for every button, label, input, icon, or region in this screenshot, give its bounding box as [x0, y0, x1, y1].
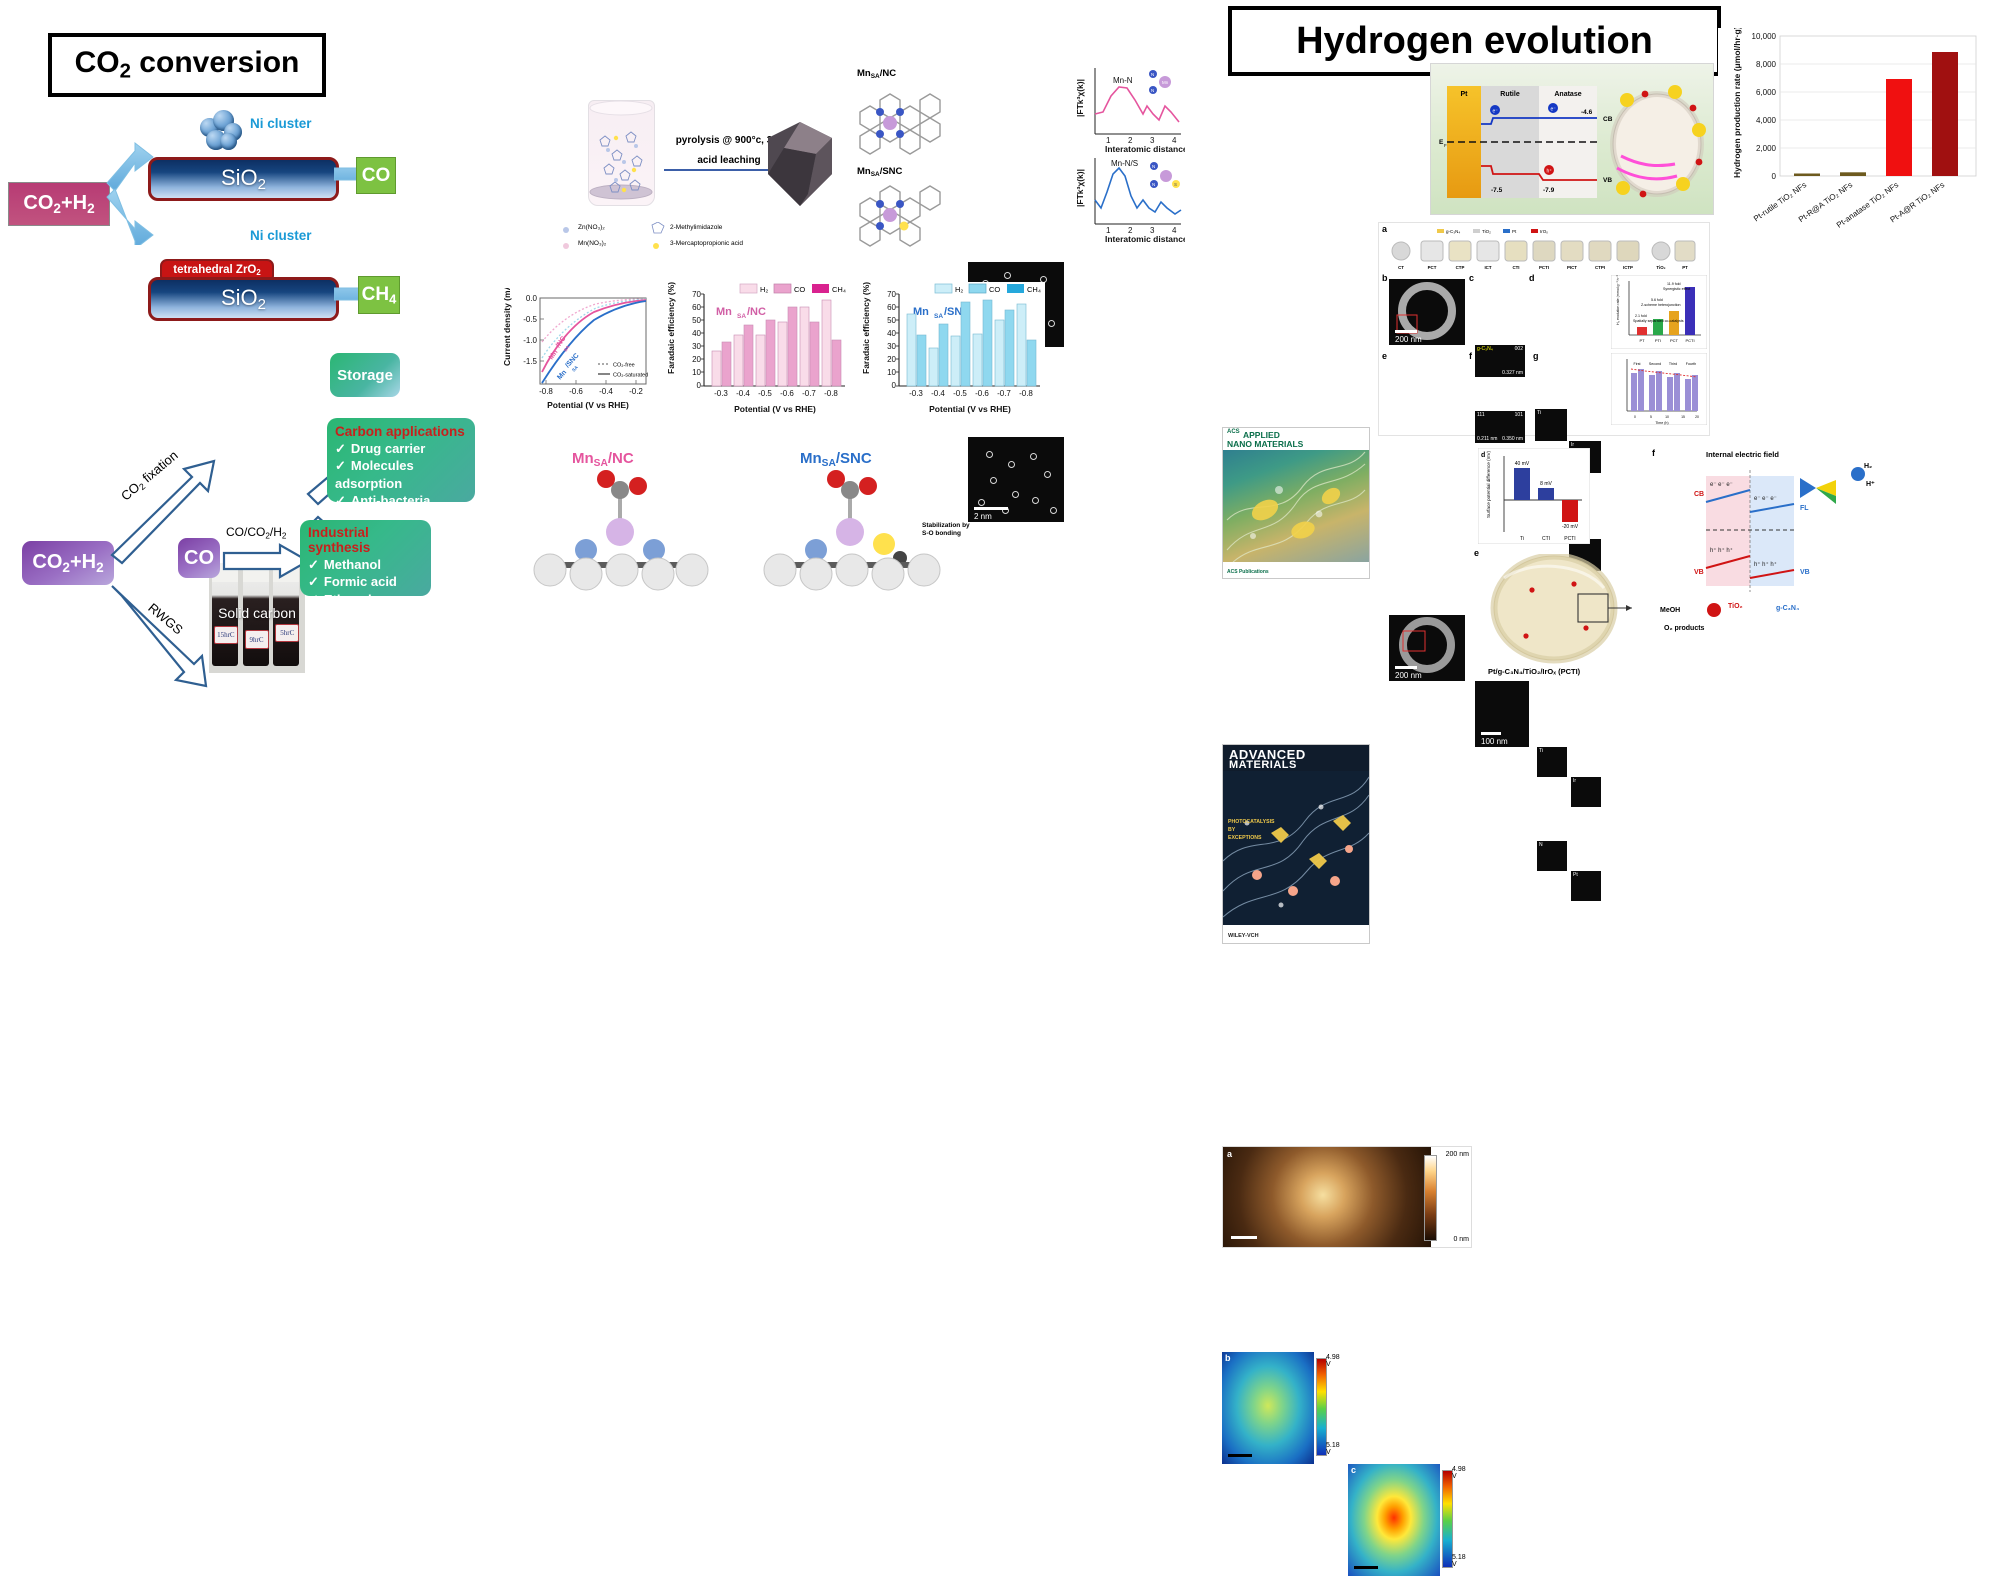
industrial-title: Industrial synthesis [308, 525, 423, 555]
svg-text:g-C₃N₄: g-C₃N₄ [1446, 229, 1460, 234]
product-co-box: CO [356, 157, 396, 194]
svg-text:15: 15 [1681, 415, 1685, 419]
solid-carbon-vials-photo: Solid carbon 15hrC 9hrC 5hrC [209, 563, 305, 673]
svg-text:-0.7: -0.7 [997, 389, 1011, 398]
svg-text:PT: PT [1682, 265, 1688, 269]
co-stream-label: CO/CO2/H2 [226, 525, 286, 540]
svg-text:40 mV: 40 mV [1515, 461, 1530, 467]
svg-text:SA: SA [934, 313, 943, 320]
eds-ti-2: Ti [1537, 747, 1567, 777]
svg-text:CT: CT [1398, 265, 1404, 269]
hrtem-label-gcn: g-C₃N₄ [1477, 346, 1493, 352]
svg-text:10: 10 [887, 368, 896, 377]
legend-zn-label: Zn(NO₃)₂ [578, 224, 605, 231]
svg-text:PCTI: PCTI [1539, 265, 1549, 269]
adv-title2: MATERIALS [1229, 759, 1297, 771]
band-alignment-schematic: Pt Rutile Anatase EF -4.6 CB -7.5 -7.9 V… [1430, 63, 1714, 215]
vial-label-2: 9hrC [245, 630, 269, 649]
kpfm-panel-c: c 4.98 V 5.18 V [1348, 1464, 1468, 1576]
svg-text:Pt: Pt [1512, 229, 1517, 234]
carbon-apps-list: Drug carrier Molecules adsorption Anti-b… [335, 440, 467, 526]
solid-carbon-caption: Solid carbon [209, 605, 305, 621]
model-label-snc: MnSA/SNC [800, 450, 872, 469]
svg-text:-0.6: -0.6 [780, 389, 794, 398]
svg-text:20: 20 [1695, 415, 1699, 419]
svg-text:-1.5: -1.5 [523, 357, 537, 366]
eds-label-ti: Ti [1537, 410, 1541, 416]
svg-text:N: N [1151, 88, 1154, 93]
storage-box: Storage [330, 353, 400, 397]
afm-letter-a: a [1227, 1149, 1232, 1159]
svg-text:Potential (V vs RHE): Potential (V vs RHE) [734, 404, 816, 414]
tem-panel-e: 200 nm [1389, 615, 1465, 681]
svg-text:VB: VB [1800, 569, 1810, 576]
svg-text:MeOH: MeOH [1660, 607, 1680, 614]
svg-text:e⁻: e⁻ [1551, 107, 1557, 113]
svg-text:0: 0 [1772, 172, 1777, 181]
feed-top-label: CO2+H2 [23, 192, 94, 216]
scalebar-f: 100 nm [1481, 737, 1508, 746]
carbon-applications-panel: Carbon applications Drug carrier Molecul… [327, 418, 475, 502]
svg-text:Ti: Ti [1520, 536, 1524, 542]
pcti-sphere-model: e Pt/g-C₃N₄/TiO₂/IrOₓ (PCTI) [1472, 548, 1647, 676]
kpfm-b-bottom: 5.18 V [1326, 1442, 1342, 1456]
industrial-item: Methanol [308, 556, 423, 573]
svg-text:IrOₓ: IrOₓ [1540, 229, 1548, 234]
svg-text:Current density (mA/cm²): Current density (mA/cm²) [502, 288, 512, 366]
svg-text:-0.4: -0.4 [599, 387, 613, 396]
kpfm-b-top: 4.98 V [1326, 1354, 1342, 1368]
svg-text:20: 20 [692, 355, 701, 364]
svg-text:2,000: 2,000 [1756, 144, 1777, 153]
ch4-label: CH4 [362, 284, 397, 307]
internal-field-label: Internal electric field [1706, 450, 1779, 459]
svg-text:CTPI: CTPI [1595, 265, 1605, 269]
feed-co2-h2-top: CO2+H2 [8, 182, 110, 226]
co2-banner-text: CO2 conversion [75, 46, 300, 84]
acs-applied-nano-materials-cover: ACS APPLIED NANO MATERIALS ACS Publicati… [1222, 427, 1370, 579]
svg-text:H₂ evolution rate (mmol g⁻¹ h⁻: H₂ evolution rate (mmol g⁻¹ h⁻¹) [1616, 275, 1620, 325]
adv-sub3: EXCEPTIONS [1228, 835, 1275, 843]
svg-text:Interatomic distance (Å): Interatomic distance (Å) [1105, 234, 1185, 244]
svg-text:h⁺: h⁺ [1547, 169, 1553, 175]
svg-text:CH₄: CH₄ [832, 285, 846, 294]
svg-text:0: 0 [697, 381, 702, 390]
structure-label-nc: MnSA/NC [857, 68, 896, 80]
svg-text:50: 50 [692, 316, 701, 325]
legend-methylimidazole-label: 2-Methylimidazole [670, 224, 722, 231]
eds-ir-2: Ir [1571, 777, 1601, 807]
vial-label-3: 5hrC [275, 624, 299, 643]
svg-text:Third: Third [1669, 362, 1677, 366]
svg-text:d: d [1481, 452, 1485, 459]
eds-pt-2: Pt [1571, 871, 1601, 901]
hrtem-1: g-C₃N₄ 002 0.327 nm [1475, 345, 1525, 377]
svg-text:5.6 fold: 5.6 fold [1651, 298, 1663, 302]
surface-potential-chart: d 40 mV8 mV-20 mV TiCTIPCTI Surface pote… [1478, 448, 1590, 544]
carbon-apps-title: Carbon applications [335, 424, 467, 439]
svg-text:/NC: /NC [747, 306, 766, 318]
svg-text:-0.8: -0.8 [539, 387, 553, 396]
kpfm-letter-c: c [1351, 1465, 1356, 1475]
sio2-support-bottom: SiO2 [148, 277, 339, 321]
svg-text:Spatially separated co-catalys: Spatially separated co-catalysts [1633, 319, 1684, 323]
eds-n-2: N [1537, 841, 1567, 871]
hydrogen-production-chart: 10,0008,0006,000 4,0002,0000 Hydrogen pr… [1718, 28, 1988, 238]
svg-text:Hydrogen production rate (μmol: Hydrogen production rate (μmol/hr·g) [1732, 28, 1742, 178]
svg-text:CO: CO [794, 285, 805, 294]
svg-text:-7.5: -7.5 [1491, 187, 1503, 194]
svg-text:5: 5 [1650, 415, 1652, 419]
feed-co2-h2-bottom: CO2+H2 [22, 541, 114, 585]
svg-text:Second: Second [1649, 362, 1661, 366]
svg-text:Fourth: Fourth [1686, 362, 1696, 366]
svg-text:6,000: 6,000 [1756, 88, 1777, 97]
svg-text:-20 mV: -20 mV [1562, 524, 1579, 530]
svg-text:F: F [1444, 143, 1447, 148]
panel-letter-c: c [1469, 273, 1474, 283]
svg-text:e⁻ e⁻ e⁻: e⁻ e⁻ e⁻ [1754, 496, 1777, 502]
svg-text:CH₄: CH₄ [1027, 285, 1041, 294]
svg-text:N: N [1152, 182, 1155, 187]
svg-text:0: 0 [1634, 415, 1636, 419]
svg-text:-7.9: -7.9 [1543, 187, 1555, 194]
svg-text:Anatase: Anatase [1554, 91, 1581, 98]
faradaic-efficiency-chart-nc: 706050 403020 100 Faradaic efficiency (%… [660, 282, 850, 418]
svg-text:30: 30 [692, 342, 701, 351]
svg-text:40: 40 [887, 329, 896, 338]
sio2-label-bottom: SiO2 [221, 285, 266, 313]
svg-text:N: N [1152, 164, 1155, 169]
svg-text:-0.7: -0.7 [802, 389, 816, 398]
tem-panel-b: 200 nm [1389, 279, 1465, 345]
dft-model-nc [520, 470, 715, 610]
svg-text:ICTP: ICTP [1623, 265, 1633, 269]
kpfm-c-top: 4.98 V [1452, 1466, 1468, 1480]
svg-text:H₂: H₂ [955, 285, 963, 294]
sio2-support-top: SiO2 [148, 157, 339, 201]
legend-mercaptopropionic-label: 3-Mercaptopropionic acid [670, 240, 743, 247]
adv-sub2: BY [1228, 827, 1275, 835]
vial-label-1: 15hrC [214, 626, 238, 645]
svg-text:-0.5: -0.5 [953, 389, 967, 398]
kpfm-panel-b: b 4.98 V 5.18 V [1222, 1352, 1342, 1464]
svg-text:-0.5: -0.5 [758, 389, 772, 398]
zro2-label: tetrahedral ZrO2 [173, 264, 260, 277]
svg-text:CB: CB [1694, 491, 1704, 498]
panel-letter-b: b [1382, 273, 1388, 283]
svg-text:Time (h): Time (h) [1655, 421, 1668, 425]
svg-text:Mn-N/S: Mn-N/S [1111, 159, 1138, 168]
svg-text:CO: CO [989, 285, 1000, 294]
svg-text:Potential (V vs RHE): Potential (V vs RHE) [929, 404, 1011, 414]
adv-sub1: PHOTOCATALYSIS [1228, 819, 1275, 827]
panel-letter-f: f [1469, 351, 1472, 361]
svg-text:Z-scheme heterojunction: Z-scheme heterojunction [1641, 303, 1681, 307]
carbon-app-item: Molecules adsorption [335, 457, 467, 492]
svg-text:50: 50 [887, 316, 896, 325]
svg-text:-0.2: -0.2 [629, 387, 643, 396]
svg-text:Faradaic efficiency (%): Faradaic efficiency (%) [861, 282, 871, 374]
industrial-list: Methanol Formic acid Ethanol [308, 556, 423, 608]
svg-text:S: S [1174, 182, 1177, 187]
svg-text:-0.3: -0.3 [909, 389, 923, 398]
svg-text:CO₂-free: CO₂-free [613, 363, 635, 369]
mech-letter-f: f [1652, 448, 1655, 458]
svg-text:0.0: 0.0 [526, 294, 538, 303]
svg-text:PCT: PCT [1670, 338, 1679, 343]
mn-snc-graphene-structure [850, 182, 945, 254]
svg-text:Mn: Mn [716, 306, 732, 318]
svg-text:e⁻ e⁻ e⁻: e⁻ e⁻ e⁻ [1710, 482, 1733, 488]
svg-text:-1.0: -1.0 [523, 336, 537, 345]
svg-text:-0.8: -0.8 [1019, 389, 1033, 398]
svg-text:20: 20 [887, 355, 896, 364]
svg-text:VB: VB [1694, 569, 1704, 576]
multipanel-characterization-figure: a g-C₃N₄ TiO₂ Pt IrOₓ CTPCTCTP ICTCTIPCT… [1378, 222, 1710, 436]
hrtem-101: 101 [1515, 412, 1523, 418]
svg-text:N: N [1151, 72, 1154, 77]
industrial-synthesis-panel: Industrial synthesis Methanol Formic aci… [300, 520, 431, 596]
scalebar-b: 200 nm [1395, 335, 1422, 344]
svg-text:PT: PT [1639, 338, 1645, 343]
beaker-contents [586, 98, 656, 208]
zif-polyhedron [760, 120, 840, 210]
hrtem-0327: 0.327 nm [1502, 370, 1523, 376]
afm-scale-top: 200 nm [1446, 1151, 1469, 1158]
structure-label-snc: MnSA/SNC [857, 166, 902, 178]
svg-text:2.1 fold: 2.1 fold [1635, 314, 1647, 318]
eds2-label-n: N [1539, 842, 1543, 848]
svg-text:-0.8: -0.8 [824, 389, 838, 398]
svg-text:10: 10 [1665, 415, 1669, 419]
svg-text:H₂: H₂ [1864, 463, 1872, 470]
industrial-item: Formic acid [308, 573, 423, 590]
afm-topography-panel: a 200 nm 0 nm [1222, 1146, 1472, 1248]
carbon-app-item: Drug carrier [335, 440, 467, 457]
svg-text:Mn: Mn [1162, 80, 1169, 85]
svg-text:11.9 fold: 11.9 fold [1667, 282, 1681, 286]
svg-text:Rutile: Rutile [1500, 91, 1520, 98]
svg-text:10,000: 10,000 [1752, 32, 1777, 41]
svg-text:70: 70 [887, 290, 896, 299]
hrtem-0350: 0.350 nm [1502, 436, 1523, 442]
svg-text:PICT: PICT [1567, 265, 1577, 269]
kpfm-letter-b: b [1225, 1353, 1231, 1363]
hrtem-2: 111 101 0.211 nm 0.350 nm [1475, 411, 1525, 443]
co-intermediate-box: CO [178, 538, 220, 578]
svg-text:60: 60 [692, 303, 701, 312]
svg-text:ICT: ICT [1484, 265, 1491, 269]
afm-scale-bottom: 0 nm [1453, 1236, 1469, 1243]
eds2-label-ti: Ti [1539, 748, 1543, 754]
model-label-nc: MnSA/NC [572, 450, 634, 469]
mn-nc-graphene-structure [850, 84, 945, 162]
panel-letter-e: e [1382, 351, 1387, 361]
dft-model-snc [750, 470, 955, 610]
svg-text:Potential (V vs RHE): Potential (V vs RHE) [547, 400, 629, 410]
svg-text:First: First [1634, 362, 1641, 366]
svg-text:-0.6: -0.6 [975, 389, 989, 398]
svg-text:TiO₂: TiO₂ [1656, 265, 1665, 269]
svg-text:-0.4: -0.4 [931, 389, 945, 398]
eds-ti-1: Ti [1535, 409, 1567, 441]
industrial-item: Ethanol [308, 591, 423, 608]
svg-text:60: 60 [887, 303, 896, 312]
tem-panel-f: 100 nm [1475, 681, 1529, 747]
kpfm-c-bottom: 5.18 V [1452, 1554, 1468, 1568]
acs-line2: NANO MATERIALS [1227, 439, 1303, 449]
svg-text:40: 40 [692, 329, 701, 338]
svg-text:70: 70 [692, 290, 701, 299]
tem-image-snc: 2 nm [968, 437, 1064, 522]
svg-text:Faradaic efficiency (%): Faradaic efficiency (%) [666, 282, 676, 374]
h2-banner-text: Hydrogen evolution [1296, 20, 1653, 63]
svg-text:SA: SA [737, 313, 746, 320]
tem-scalebar-snc: 2 nm [974, 512, 992, 521]
svg-text:FL: FL [1800, 505, 1809, 512]
panel-letter-d: d [1529, 273, 1535, 283]
svg-text:Pt: Pt [1461, 91, 1469, 98]
svg-text:PTI: PTI [1655, 338, 1661, 343]
legend-mn-label: Mn(NO₃)₂ [578, 240, 606, 247]
svg-text:0: 0 [892, 381, 897, 390]
svg-text:H₂: H₂ [760, 285, 768, 294]
svg-text:TiO₂: TiO₂ [1482, 229, 1491, 234]
svg-text:e⁻: e⁻ [1493, 109, 1499, 115]
pcti-caption: Pt/g-C₃N₄/TiO₂/IrOₓ (PCTI) [1488, 667, 1580, 676]
svg-text:CO₂-saturated: CO₂-saturated [613, 373, 648, 379]
sio2-label-top: SiO2 [221, 165, 266, 193]
svg-text:PCTI: PCTI [1685, 338, 1694, 343]
exafs-plot-nc: Mn-N 1234 |FTk³χ(k)| Interatomic distanc… [1073, 62, 1185, 154]
carbon-app-item: Anti-bacteria [335, 492, 467, 509]
hrtem-002: 002 [1515, 346, 1523, 352]
eds2-label-ir: Ir [1573, 778, 1576, 784]
advanced-materials-cover: ADVANCED MATERIALS PHOTOCATALYSIS BY EXC… [1222, 744, 1370, 944]
svg-text:TiO₂: TiO₂ [1728, 603, 1743, 610]
svg-text:h⁺ h⁺ h⁺: h⁺ h⁺ h⁺ [1710, 547, 1733, 554]
product-ch4-box: CH4 [358, 276, 400, 314]
svg-text:CTI: CTI [1512, 265, 1519, 269]
acs-logo: ACS [1227, 429, 1240, 435]
hrtem-111: 111 [1477, 412, 1485, 418]
svg-text:h⁺ h⁺ h⁺: h⁺ h⁺ h⁺ [1754, 561, 1777, 568]
svg-text:CTP: CTP [1456, 265, 1465, 269]
svg-text:|FTk³χ(k)|: |FTk³χ(k)| [1075, 169, 1085, 207]
svg-text:-0.6: -0.6 [569, 387, 583, 396]
svg-text:g-C₃N₄: g-C₃N₄ [1776, 605, 1799, 612]
hrtem-0211: 0.211 nm [1477, 436, 1497, 442]
exafs-plot-snc: Mn-N/S 1234 |FTk³χ(k)| Interatomic dista… [1073, 152, 1185, 244]
scalebar-e: 200 nm [1395, 671, 1422, 680]
sphere-letter-e: e [1474, 548, 1479, 558]
svg-text:Surface potential difference (: Surface potential difference (mV) [1486, 450, 1491, 518]
svg-text:30: 30 [887, 342, 896, 351]
s-o-bonding-note: Stabilization byS-O bonding [922, 522, 994, 538]
arrow-co-to-industrial [222, 543, 310, 579]
svg-text:PCTI: PCTI [1564, 536, 1575, 542]
svg-text:10: 10 [692, 368, 701, 377]
svg-text:-0.3: -0.3 [714, 389, 728, 398]
svg-text:|FTk³χ(k)|: |FTk³χ(k)| [1075, 79, 1085, 117]
svg-text:CB: CB [1603, 116, 1613, 123]
mechanism-diagram: f Internal electric field CB VB FL VB e⁻… [1650, 448, 1890, 648]
ni-cluster-label-bottom: Ni cluster [250, 228, 312, 243]
ni-cluster-top [196, 110, 244, 152]
svg-text:PCT: PCT [1428, 265, 1437, 269]
svg-text:H⁺: H⁺ [1866, 481, 1875, 488]
faradaic-efficiency-chart-snc: 706050 403020 100 Faradaic efficiency (%… [855, 282, 1045, 418]
svg-text:CTI: CTI [1542, 536, 1550, 542]
svg-text:Mn-N: Mn-N [1113, 76, 1133, 85]
eds2-label-pt: Pt [1573, 872, 1578, 878]
svg-text:-0.4: -0.4 [736, 389, 750, 398]
svg-text:VB: VB [1603, 177, 1612, 184]
svg-text:Synergistic effect: Synergistic effect [1663, 287, 1690, 291]
svg-text:-4.6: -4.6 [1581, 109, 1593, 116]
svg-text:4,000: 4,000 [1756, 116, 1777, 125]
ni-cluster-label-top: Ni cluster [250, 116, 312, 131]
svg-text:8,000: 8,000 [1756, 60, 1777, 69]
acs-footer: ACS Publications [1227, 569, 1269, 575]
svg-text:O₂ products: O₂ products [1664, 625, 1705, 632]
co2-conversion-banner: CO2 conversion [48, 33, 326, 97]
feed-bottom-label: CO2+H2 [32, 551, 103, 575]
svg-text:-0.5: -0.5 [523, 315, 537, 324]
lsv-chart: 0.0-0.5 -1.0-1.5 -0.8-0.6 -0.4-0.2 Poten… [496, 288, 656, 418]
svg-text:8 mV: 8 mV [1540, 481, 1552, 487]
panel-letter-g: g [1533, 351, 1539, 361]
adv-footer: WILEY-VCH [1228, 933, 1259, 939]
